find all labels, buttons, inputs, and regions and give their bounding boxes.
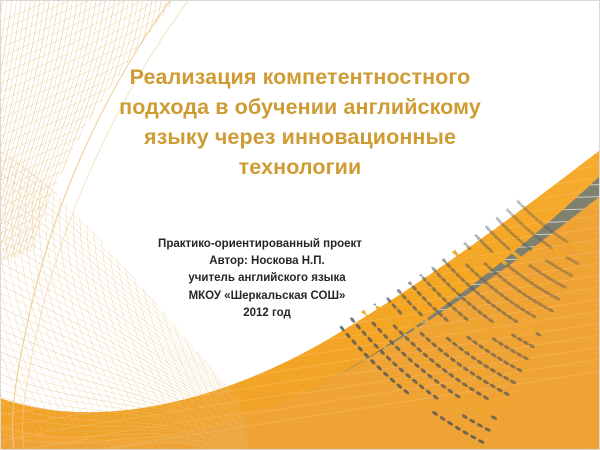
title-line-1: Реализация компетентностного [88, 62, 512, 92]
subtitle-line-project-type: Практико-ориентированный проект [70, 236, 450, 253]
slide-title: Реализация компетентностного подхода в о… [88, 62, 512, 182]
subtitle-line-school: МКОУ «Шеркальская СОШ» [70, 288, 450, 305]
slide-subtitle: Практико-ориентированный проект Автор: Н… [70, 236, 450, 322]
title-line-3: языку через инновационные [88, 122, 512, 152]
subtitle-line-year: 2012 год [70, 305, 450, 322]
presentation-slide: Реализация компетентностного подхода в о… [0, 0, 600, 450]
title-line-4: технологии [88, 152, 512, 182]
subtitle-line-author: Автор: Носкова Н.П. [70, 253, 450, 270]
subtitle-line-role: учитель английского языка [70, 270, 450, 287]
slide-text-layer: Реализация компетентностного подхода в о… [0, 0, 600, 450]
title-line-2: подхода в обучении английскому [88, 92, 512, 122]
